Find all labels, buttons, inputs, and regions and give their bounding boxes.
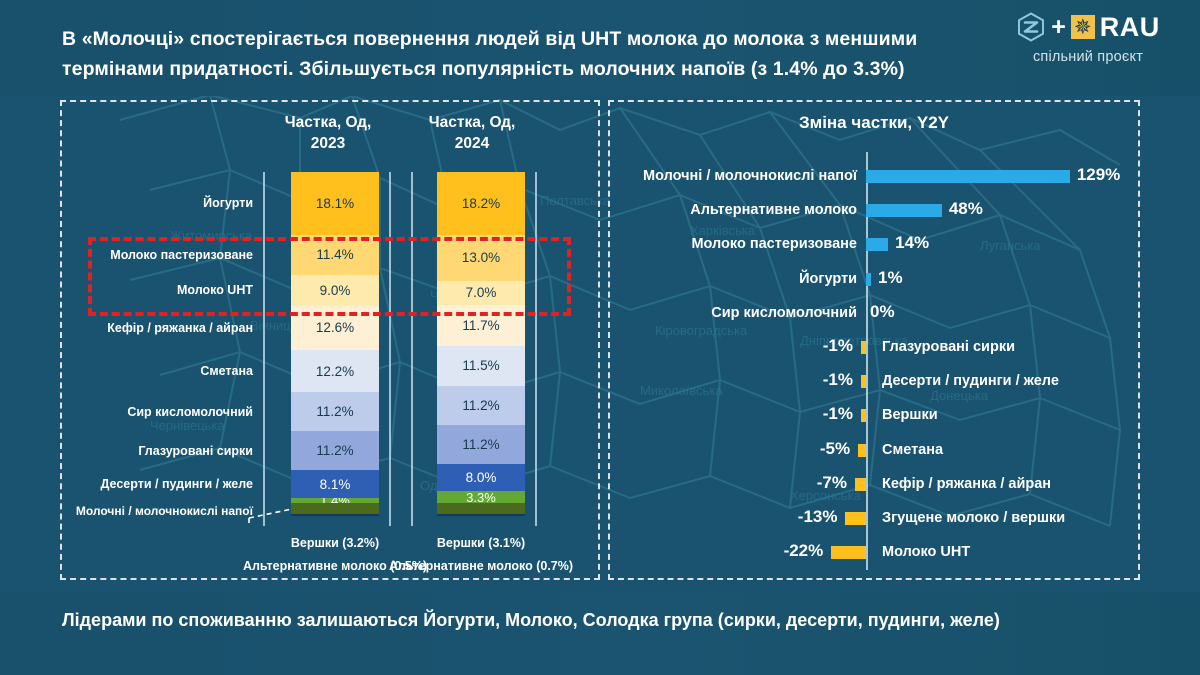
diverging-bar-label: Йогурти (799, 269, 857, 290)
diverging-bar-label: Глазуровані сирки (882, 337, 1015, 358)
diverging-bar-row: 1%Йогурти (612, 269, 1136, 290)
logo-subtitle: спільний проєкт (998, 49, 1178, 65)
diverging-bar-value: -7% (817, 473, 847, 493)
diverging-bar (861, 375, 866, 388)
diverging-bar (845, 512, 866, 525)
diverging-bar-row: -13%Згущене молоко / вершки (612, 508, 1136, 529)
diverging-bar (861, 409, 866, 422)
diverging-bar-row: -1%Глазуровані сирки (612, 337, 1136, 358)
diverging-bar-row: -5%Сметана (612, 440, 1136, 461)
diverging-bar-label: Вершки (882, 405, 938, 426)
diverging-bar-value: -1% (823, 370, 853, 390)
diverging-bar-row: -1%Вершки (612, 405, 1136, 426)
diverging-bar-value: -1% (823, 336, 853, 356)
diverging-bar-label: Молочні / молочнокислі напої (643, 166, 857, 187)
diverging-bar-label: Молоко UHT (882, 542, 970, 563)
diverging-bar-value: -22% (784, 541, 824, 561)
diverging-bar-row: -7%Кефір / ряжанка / айран (612, 474, 1136, 495)
logo-plus-symbol: + (1051, 15, 1066, 40)
diverging-bar (866, 273, 871, 286)
diverging-bar-label: Кефір / ряжанка / айран (882, 474, 1051, 495)
page-title: В «Молочці» спостерігається повернення л… (62, 24, 992, 84)
diverging-bar-label: Десерти / пудинги / желе (882, 371, 1059, 392)
diverging-bar-value: 1% (878, 268, 903, 288)
diverging-bar-label: Згущене молоко / вершки (882, 508, 1065, 529)
diverging-bar-label: Альтернативне молоко (690, 200, 857, 221)
diverging-bar-label: Сир кисломолочний (711, 303, 857, 324)
diverging-bar-value: 14% (895, 233, 929, 253)
diverging-bar (831, 546, 866, 559)
diverging-bar-value: 129% (1077, 165, 1120, 185)
logo-block: + ✵ RAU спільний проєкт (998, 8, 1178, 65)
diverging-bar (866, 204, 942, 217)
star-burst-icon: ✵ (1071, 15, 1095, 39)
diverging-bar (855, 478, 866, 491)
diverging-bar (866, 238, 888, 251)
diverging-bar-value: 0% (870, 302, 895, 322)
diverging-bar-row: 129%Молочні / молочнокислі напої (612, 166, 1136, 187)
diverging-bar-label: Молоко пастеризоване (691, 234, 857, 255)
diverging-bar-value: -5% (820, 439, 850, 459)
diverging-bar (866, 170, 1070, 183)
diverging-bar-value: -1% (823, 404, 853, 424)
footer-conclusion-text: Лідерами по споживанню залишаються Йогур… (62, 606, 1092, 635)
diverging-bar-label: Сметана (882, 440, 943, 461)
diverging-bar-row: -1%Десерти / пудинги / желе (612, 371, 1136, 392)
diverging-bar-row: -22%Молоко UHT (612, 542, 1136, 563)
diverging-bar-row: 48%Альтернативне молоко (612, 200, 1136, 221)
diverging-bar-row: 14%Молоко пастеризоване (612, 234, 1136, 255)
diverging-bar-value: -13% (798, 507, 838, 527)
logo-brand-name: RAU (1100, 14, 1160, 41)
header-banner: В «Молочці» спостерігається повернення л… (0, 0, 1200, 96)
hexagon-s-icon (1016, 12, 1046, 42)
footer-banner: Лідерами по споживанню залишаються Йогур… (0, 592, 1200, 675)
diverging-bar (858, 444, 866, 457)
diverging-bar (861, 341, 866, 354)
diverging-bar-value: 48% (949, 199, 983, 219)
diverging-bar-row: 0%Сир кисломолочний (612, 303, 1136, 324)
share-stacked-column-panel (60, 100, 600, 580)
